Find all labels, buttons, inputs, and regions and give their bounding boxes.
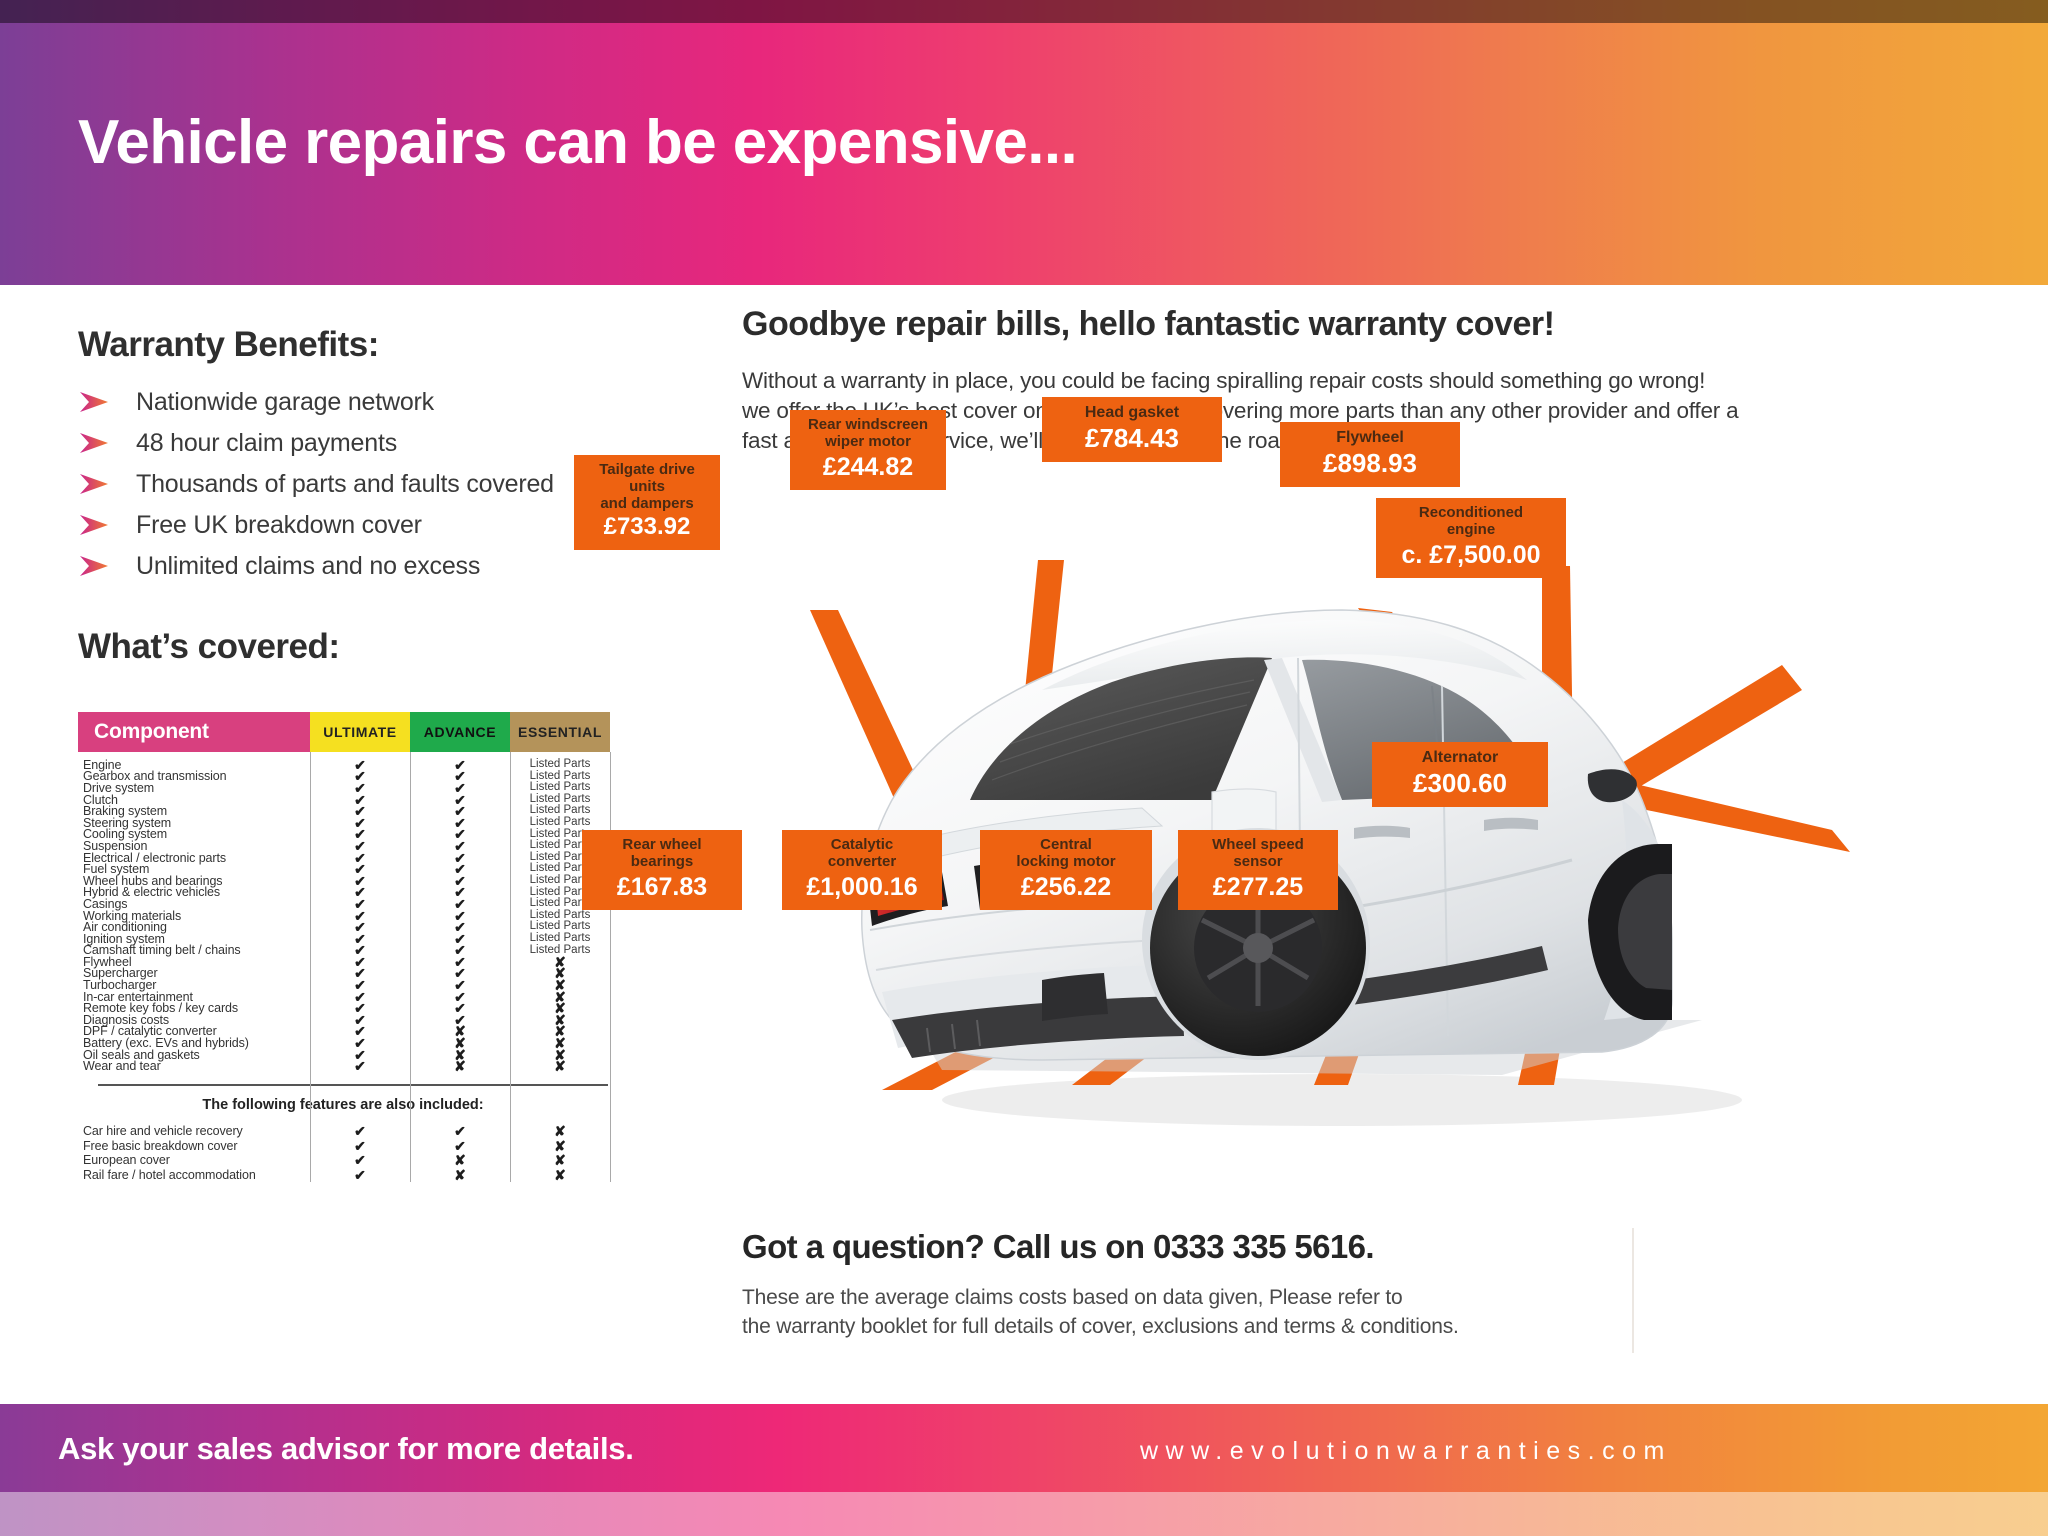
callout-flywheel: Flywheel £898.93 bbox=[1280, 422, 1460, 487]
right-heading: Goodbye repair bills, hello fantastic wa… bbox=[742, 305, 2002, 344]
car-diagram-area: Tailgate drive units and dampers £733.92… bbox=[742, 500, 2022, 1190]
page-title: Vehicle repairs can be expensive... bbox=[78, 112, 1077, 174]
table-cell-ultimate: ✔ bbox=[310, 1124, 410, 1138]
callout-price: £784.43 bbox=[1056, 424, 1208, 453]
callout-label-line1: Central bbox=[994, 837, 1138, 854]
benefit-label: 48 hour claim payments bbox=[136, 429, 397, 458]
benefit-label: Unlimited claims and no excess bbox=[136, 552, 480, 581]
table-cell-essential: ✘ bbox=[510, 1168, 610, 1182]
column-header-essential: ESSENTIAL bbox=[510, 712, 610, 752]
callout-reconditioned-engine: Reconditioned engine c. £7,500.00 bbox=[1376, 498, 1566, 578]
callout-rear-wiper: Rear windscreen wiper motor £244.82 bbox=[790, 410, 946, 490]
chevron-right-icon bbox=[78, 514, 118, 536]
callout-label-line1: Tailgate drive units bbox=[588, 462, 706, 496]
table-cell-essential: Listed Parts bbox=[510, 759, 610, 771]
table-cell-advance: ✔ bbox=[410, 1139, 510, 1153]
table-cell-component: Free basic breakdown cover bbox=[78, 1139, 310, 1153]
column-header-advance: ADVANCE bbox=[410, 712, 510, 752]
right-body-line-1: Without a warranty in place, you could b… bbox=[742, 366, 2002, 396]
callout-alternator: Alternator £300.60 bbox=[1372, 742, 1548, 807]
callout-price: c. £7,500.00 bbox=[1390, 541, 1552, 569]
callout-central-locking: Central locking motor £256.22 bbox=[980, 830, 1152, 910]
table-cell-essential: Listed Parts bbox=[510, 933, 610, 945]
benefit-item: Nationwide garage network bbox=[78, 387, 638, 417]
cta-disclaimer-line-2: the warranty booklet for full details of… bbox=[742, 1313, 1602, 1342]
table-divider-4 bbox=[610, 752, 611, 1182]
cta-heading: Got a question? Call us on 0333 335 5616… bbox=[742, 1228, 1602, 1266]
table-row-extra: Free basic breakdown cover✔✔✘ bbox=[78, 1139, 628, 1154]
callout-label-line1: Alternator bbox=[1386, 749, 1534, 767]
benefit-item: Unlimited claims and no excess bbox=[78, 551, 638, 581]
table-row-extra: Rail fare / hotel accommodation✔✘✘ bbox=[78, 1168, 628, 1183]
callout-label-line1: Reconditioned bbox=[1390, 505, 1552, 522]
table-cell-component: Wear and tear bbox=[78, 1059, 310, 1073]
also-included-heading: The following features are also included… bbox=[78, 1086, 608, 1124]
top-banner: Vehicle repairs can be expensive... bbox=[0, 0, 2048, 285]
callout-wheel-speed-sensor: Wheel speed sensor £277.25 bbox=[1178, 830, 1338, 910]
footer-tagline: Ask your sales advisor for more details. bbox=[58, 1431, 634, 1467]
callout-catalytic-converter: Catalytic converter £1,000.16 bbox=[782, 830, 942, 910]
chevron-right-icon bbox=[78, 432, 118, 454]
table-cell-ultimate: ✔ bbox=[310, 1139, 410, 1153]
callout-label-line2: bearings bbox=[596, 854, 728, 871]
callout-label-line1: Flywheel bbox=[1294, 429, 1446, 447]
cta-disclaimer-line-1: These are the average claims costs based… bbox=[742, 1284, 1602, 1313]
callout-price: £300.60 bbox=[1386, 769, 1534, 798]
table-cell-essential: ✘ bbox=[510, 1139, 610, 1153]
callout-rear-wheel-bearings: Rear wheel bearings £167.83 bbox=[582, 830, 742, 910]
callout-label-line1: Wheel speed bbox=[1192, 837, 1324, 854]
left-column: Warranty Benefits: Nationwide garage net… bbox=[78, 325, 638, 689]
callout-label-line2: locking motor bbox=[994, 854, 1138, 871]
callout-label-line2: wiper motor bbox=[804, 434, 932, 451]
table-cell-ultimate: ✔ bbox=[310, 1059, 410, 1073]
callout-price: £1,000.16 bbox=[796, 873, 928, 901]
chevron-right-icon bbox=[78, 555, 118, 577]
column-header-component: Component bbox=[78, 712, 310, 752]
table-cell-essential: ✘ bbox=[510, 1059, 610, 1073]
callout-label-line2: converter bbox=[796, 854, 928, 871]
table-cell-essential: ✘ bbox=[510, 1153, 610, 1167]
footer-shade-strip bbox=[0, 1492, 2048, 1536]
callout-label-line2: and dampers bbox=[588, 496, 706, 513]
benefit-label: Free UK breakdown cover bbox=[136, 511, 422, 540]
table-row-extra: Car hire and vehicle recovery✔✔✘ bbox=[78, 1124, 628, 1139]
callout-price: £733.92 bbox=[588, 514, 706, 541]
table-body: Engine✔✔Listed PartsGearbox and transmis… bbox=[78, 752, 628, 1182]
callout-label-line2: engine bbox=[1390, 522, 1552, 539]
chevron-right-icon bbox=[78, 391, 118, 413]
callout-label-line1: Rear windscreen bbox=[804, 417, 932, 434]
table-cell-component: European cover bbox=[78, 1153, 310, 1167]
benefit-label: Nationwide garage network bbox=[136, 388, 434, 417]
table-cell-advance: ✘ bbox=[410, 1168, 510, 1182]
callout-label-line2: sensor bbox=[1192, 854, 1324, 871]
table-cell-essential: Listed Parts bbox=[510, 817, 610, 829]
coverage-table: Component ULTIMATE ADVANCE ESSENTIAL Eng… bbox=[78, 712, 628, 1182]
callout-price: £898.93 bbox=[1294, 449, 1446, 478]
benefit-item: Thousands of parts and faults covered bbox=[78, 469, 638, 499]
column-header-ultimate: ULTIMATE bbox=[310, 712, 410, 752]
callout-tailgate: Tailgate drive units and dampers £733.92 bbox=[574, 455, 720, 550]
table-cell-advance: ✔ bbox=[410, 1124, 510, 1138]
benefit-item: Free UK breakdown cover bbox=[78, 510, 638, 540]
callout-price: £167.83 bbox=[596, 873, 728, 901]
table-cell-essential: ✘ bbox=[510, 1124, 610, 1138]
callout-price: £244.82 bbox=[804, 453, 932, 481]
banner-shade-strip bbox=[0, 0, 2048, 23]
warranty-benefits-list: Nationwide garage network 48 hour claim … bbox=[78, 387, 638, 581]
table-cell-ultimate: ✔ bbox=[310, 1168, 410, 1182]
table-cell-component: Rail fare / hotel accommodation bbox=[78, 1168, 310, 1182]
cta-vertical-rule bbox=[1632, 1228, 1634, 1353]
table-cell-essential: Listed Parts bbox=[510, 782, 610, 794]
table-divider-3 bbox=[510, 752, 511, 1182]
callout-price: £256.22 bbox=[994, 873, 1138, 901]
cta-disclaimer: These are the average claims costs based… bbox=[742, 1284, 1602, 1341]
table-row: Wear and tear✔✘✘ bbox=[78, 1060, 628, 1072]
callout-label-line1: Head gasket bbox=[1056, 404, 1208, 422]
chevron-right-icon bbox=[78, 473, 118, 495]
benefit-item: 48 hour claim payments bbox=[78, 428, 638, 458]
footer-website-url[interactable]: www.evolutionwarranties.com bbox=[1140, 1437, 1672, 1466]
table-row-extra: European cover✔✘✘ bbox=[78, 1153, 628, 1168]
table-cell-ultimate: ✔ bbox=[310, 1153, 410, 1167]
table-cell-advance: ✘ bbox=[410, 1153, 510, 1167]
callout-price: £277.25 bbox=[1192, 873, 1324, 901]
table-divider-1 bbox=[310, 752, 311, 1182]
whats-covered-heading: What’s covered: bbox=[78, 627, 638, 667]
table-header-row: Component ULTIMATE ADVANCE ESSENTIAL bbox=[78, 712, 628, 752]
callout-label-line1: Catalytic bbox=[796, 837, 928, 854]
table-cell-component: Car hire and vehicle recovery bbox=[78, 1124, 310, 1138]
callout-head-gasket: Head gasket £784.43 bbox=[1042, 397, 1222, 462]
table-divider-2 bbox=[410, 752, 411, 1182]
benefit-label: Thousands of parts and faults covered bbox=[136, 470, 554, 499]
callout-label-line1: Rear wheel bbox=[596, 837, 728, 854]
table-cell-advance: ✘ bbox=[410, 1059, 510, 1073]
warranty-benefits-heading: Warranty Benefits: bbox=[78, 325, 638, 365]
cta-block: Got a question? Call us on 0333 335 5616… bbox=[742, 1228, 1602, 1341]
